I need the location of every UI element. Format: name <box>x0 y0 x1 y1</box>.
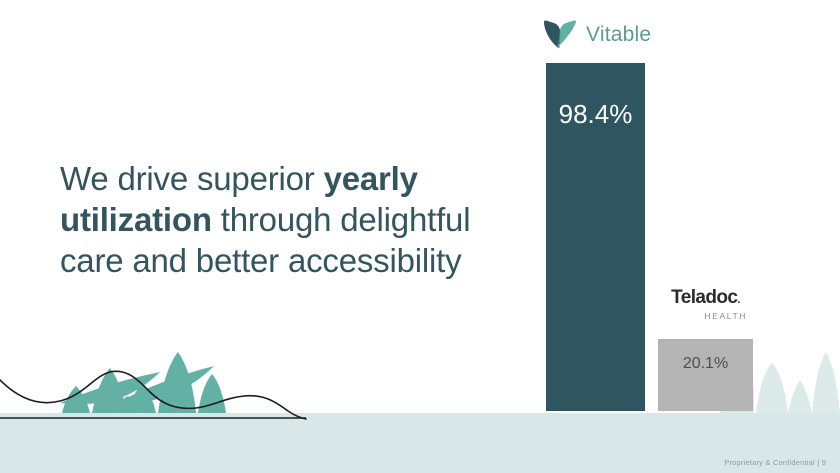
bar-value-vitable: 98.4% <box>546 99 645 130</box>
slide-canvas: We drive superior yearly utilization thr… <box>0 0 840 473</box>
bar-teladoc <box>658 339 753 411</box>
brand-name-teladoc-dot: . <box>737 294 739 306</box>
brand-label-teladoc: Teladoc. HEALTH <box>658 288 753 321</box>
footer-confidentiality-note: Proprietary & Confidential | 9 <box>724 458 826 467</box>
brand-name-teladoc-text: Teladoc <box>671 287 737 308</box>
brand-sub-teladoc: HEALTH <box>658 311 753 321</box>
brand-label-vitable: Vitable <box>543 20 651 50</box>
utilization-bar-chart: 98.4% 20.1% Vitable Teladoc. HEALTH <box>0 0 840 473</box>
vitable-leaf-v-logo-icon <box>543 20 577 50</box>
brand-name-teladoc: Teladoc. <box>658 288 753 310</box>
brand-name-vitable: Vitable <box>586 23 651 47</box>
bar-value-teladoc: 20.1% <box>658 355 753 373</box>
